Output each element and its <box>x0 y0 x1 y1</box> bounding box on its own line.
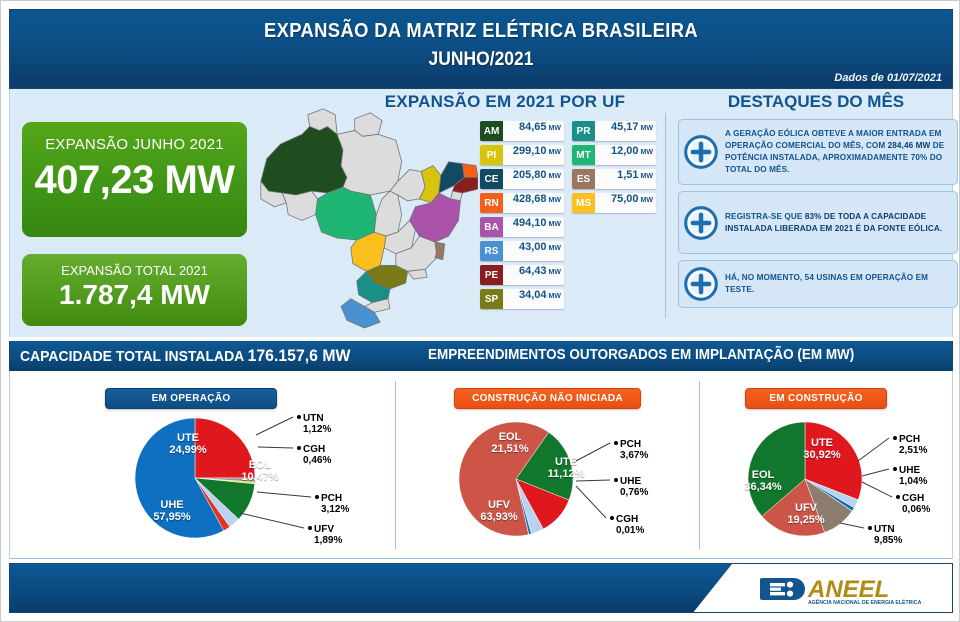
map-state-es <box>435 242 445 260</box>
uf-row-es: ES1,51MW <box>572 169 656 189</box>
pie-label-ute: UTE24,99% <box>169 432 206 456</box>
map-state-pa <box>337 130 402 195</box>
pie-label-eol: EOL10,47% <box>241 459 278 483</box>
uf-code-badge: PR <box>572 121 595 141</box>
map-state-rn <box>462 164 478 178</box>
highlight-card-3: HÁ, NO MOMENTO, 54 USINAS EM OPERAÇÃO EM… <box>678 260 958 308</box>
pie-callout-ufv: UFV1,89% <box>308 524 342 546</box>
page-footer: ANEEL AGÊNCIA NACIONAL DE ENERGIA ELÉTRI… <box>9 563 953 613</box>
brazil-map-svg <box>253 105 478 330</box>
expansion-month-value: 407,23 MW <box>22 153 247 203</box>
chart-panel-construcao-nao-iniciada: CONSTRUÇÃO NÃO INICIADAEOL21,51%UTE11,12… <box>396 371 699 559</box>
page-subtitle: JUNHO/2021 <box>48 43 915 71</box>
pie-label-uhe: UHE57,95% <box>153 499 190 523</box>
pie-label-ute: UTE11,12% <box>548 456 585 480</box>
uf-code-badge: SP <box>480 289 503 309</box>
uf-value: 34,04MW <box>503 289 564 309</box>
uf-value: 1,51MW <box>595 169 656 189</box>
uf-column-left: AM84,65MWPI299,10MWCE205,80MWRN428,68MWB… <box>480 121 564 313</box>
aneel-logo-text: ANEEL <box>807 576 889 603</box>
pie-label-eol: EOL36,34% <box>744 469 781 493</box>
pie-callout-pch: PCH2,51% <box>893 434 927 456</box>
pie-callout-pch: PCH3,12% <box>315 493 349 515</box>
uf-row-ms: MS75,00MW <box>572 193 656 213</box>
leader-line <box>258 447 293 448</box>
map-state-am <box>261 127 347 195</box>
uf-code-badge: PE <box>480 265 503 285</box>
pie-callout-cgh: CGH0,46% <box>297 444 331 466</box>
leader-line <box>858 438 889 461</box>
uf-code-badge: BA <box>480 217 503 237</box>
page-header: EXPANSÃO DA MATRIZ ELÉTRICA BRASILEIRA J… <box>9 9 953 89</box>
map-state-ro <box>282 191 317 220</box>
uf-value: 64,43MW <box>503 265 564 285</box>
aneel-logo-icon <box>760 578 805 600</box>
uf-row-mt: MT12,00MW <box>572 145 656 165</box>
highlight-card-1: A GERAÇÃO EÓLICA OBTEVE A MAIOR ENTRADA … <box>678 119 958 185</box>
uf-value: 43,00MW <box>503 241 564 261</box>
upper-section: EXPANSÃO JUNHO 2021 407,23 MW EXPANSÃO T… <box>9 89 953 337</box>
uf-value: 494,10MW <box>503 217 564 237</box>
expansion-month-label: EXPANSÃO JUNHO 2021 <box>22 122 247 153</box>
plus-circle-icon <box>683 205 719 241</box>
pie-callout-uhe: UHE1,04% <box>893 465 927 487</box>
pie-label-ute: UTE30,92% <box>803 437 840 461</box>
uf-value: 12,00MW <box>595 145 656 165</box>
capacity-label: CAPACIDADE TOTAL INSTALADA 176.157,6 MW <box>20 346 350 366</box>
expansion-total-label: EXPANSÃO TOTAL 2021 <box>22 254 247 278</box>
highlight-card-2: REGISTRA-SE QUE 83% DE TODA A CAPACIDADE… <box>678 191 958 254</box>
charts-section: EM OPERAÇÃOUTE24,99%EOL10,47%UHE57,95%UT… <box>9 371 953 559</box>
highlight-text-3: HÁ, NO MOMENTO, 54 USINAS EM OPERAÇÃO EM… <box>725 272 951 296</box>
plus-circle-icon <box>683 266 719 302</box>
leader-line <box>862 469 889 476</box>
uf-code-badge: RN <box>480 193 503 213</box>
uf-row-sp: SP34,04MW <box>480 289 564 309</box>
highlights-title: DESTAQUES DO MÊS <box>670 92 960 112</box>
infographic-root: EXPANSÃO DA MATRIZ ELÉTRICA BRASILEIRA J… <box>0 0 960 622</box>
map-state-mt <box>316 187 377 240</box>
uf-value: 45,17MW <box>595 121 656 141</box>
uf-row-pe: PE64,43MW <box>480 265 564 285</box>
highlight-text-2: REGISTRA-SE QUE 83% DE TODA A CAPACIDADE… <box>725 211 951 235</box>
expansion-month-card: EXPANSÃO JUNHO 2021 407,23 MW <box>22 122 247 237</box>
section-bar: CAPACIDADE TOTAL INSTALADA 176.157,6 MW … <box>9 341 953 371</box>
pie-callout-uhe: UHE0,76% <box>614 476 648 498</box>
expansion-total-value: 1.787,4 MW <box>22 278 247 311</box>
map-state-ap <box>355 113 382 136</box>
uf-row-rs: RS43,00MW <box>480 241 564 261</box>
uf-code-badge: MT <box>572 145 595 165</box>
uf-code-badge: MS <box>572 193 595 213</box>
leader-line <box>257 492 311 497</box>
page-title: EXPANSÃO DA MATRIZ ELÉTRICA BRASILEIRA <box>48 10 915 43</box>
pie-label-ufv: UFV63,93% <box>480 499 517 523</box>
uf-code-badge: AM <box>480 121 503 141</box>
map-state-ba <box>410 193 461 242</box>
pie-callout-pch: PCH3,67% <box>614 439 648 461</box>
uf-code-badge: PI <box>480 145 503 165</box>
uf-column-right: PR45,17MWMT12,00MWES1,51MWMS75,00MW <box>572 121 656 217</box>
chart-panel-em-construcao: EM CONSTRUÇÃOUTE30,92%UFV19,25%EOL36,34%… <box>700 371 953 559</box>
uf-code-badge: RS <box>480 241 503 261</box>
vertical-divider <box>665 113 666 318</box>
uf-row-pr: PR45,17MW <box>572 121 656 141</box>
map-state-rj <box>408 269 428 279</box>
aneel-logo: ANEEL AGÊNCIA NACIONAL DE ENERGIA ELÉTRI… <box>760 572 940 606</box>
pie-callout-utn: UTN9,85% <box>868 524 902 546</box>
map-state-to <box>374 191 401 236</box>
data-source-label: Dados de 01/07/2021 <box>834 72 942 84</box>
chart-panel-em-operacao: EM OPERAÇÃOUTE24,99%EOL10,47%UHE57,95%UT… <box>10 371 395 559</box>
uf-row-ce: CE205,80MW <box>480 169 564 189</box>
leader-line <box>862 482 892 497</box>
uf-row-pi: PI299,10MW <box>480 145 564 165</box>
plus-circle-icon <box>683 134 719 170</box>
pie-callout-utn: UTN1,12% <box>297 413 331 435</box>
pie-label-eol: EOL21,51% <box>491 431 528 455</box>
leader-line <box>840 523 864 528</box>
uf-value: 84,65MW <box>503 121 564 141</box>
uf-value: 428,68MW <box>503 193 564 213</box>
leader-line <box>576 486 606 518</box>
pie-callout-cgh: CGH0,06% <box>896 493 930 515</box>
uf-value: 299,10MW <box>503 145 564 165</box>
uf-row-ba: BA494,10MW <box>480 217 564 237</box>
uf-section-title: EXPANSÃO EM 2021 POR UF <box>340 92 670 112</box>
uf-row-am: AM84,65MW <box>480 121 564 141</box>
uf-value: 205,80MW <box>503 169 564 189</box>
expansion-total-card: EXPANSÃO TOTAL 2021 1.787,4 MW <box>22 254 247 326</box>
uf-value: 75,00MW <box>595 193 656 213</box>
uf-row-rn: RN428,68MW <box>480 193 564 213</box>
pie-callout-cgh: CGH0,01% <box>610 514 644 536</box>
highlight-text-1: A GERAÇÃO EÓLICA OBTEVE A MAIOR ENTRADA … <box>725 128 951 176</box>
uf-code-badge: ES <box>572 169 595 189</box>
leader-line <box>576 480 610 481</box>
projects-label: EMPREENDIMENTOS OUTORGADOS EM IMPLANTAÇÃ… <box>428 347 854 363</box>
brazil-map <box>253 105 478 330</box>
uf-code-badge: CE <box>480 169 503 189</box>
pie-label-ufv: UFV19,25% <box>787 502 824 526</box>
leader-line <box>256 417 293 435</box>
aneel-logo-subtitle: AGÊNCIA NACIONAL DE ENERGIA ELÉTRICA <box>808 598 922 606</box>
leader-line <box>240 513 304 528</box>
